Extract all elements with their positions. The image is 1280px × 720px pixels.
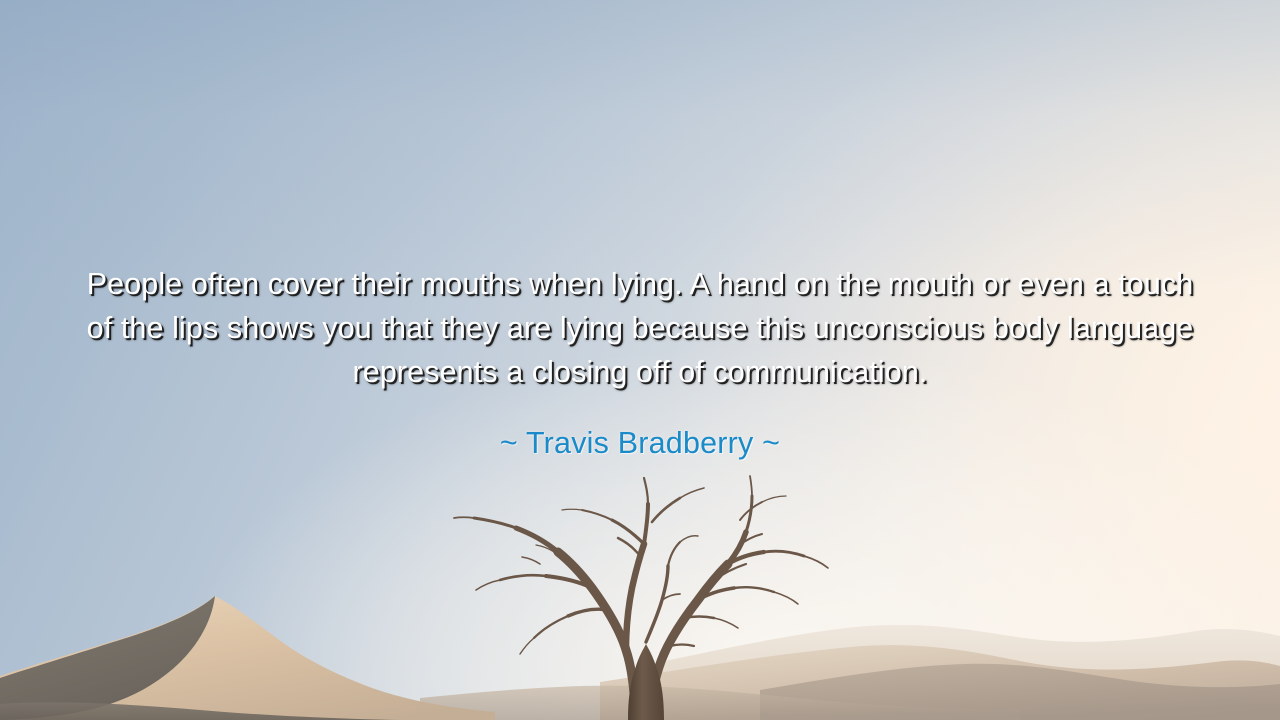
quote-card-canvas: People often cover their mouths when lyi… bbox=[0, 0, 1280, 720]
quote-text: People often cover their mouths when lyi… bbox=[85, 262, 1195, 394]
quote-attribution: ~ Travis Bradberry ~ bbox=[0, 394, 1280, 463]
dead-acacia-tree bbox=[440, 460, 840, 720]
quote-block: People often cover their mouths when lyi… bbox=[0, 262, 1280, 463]
